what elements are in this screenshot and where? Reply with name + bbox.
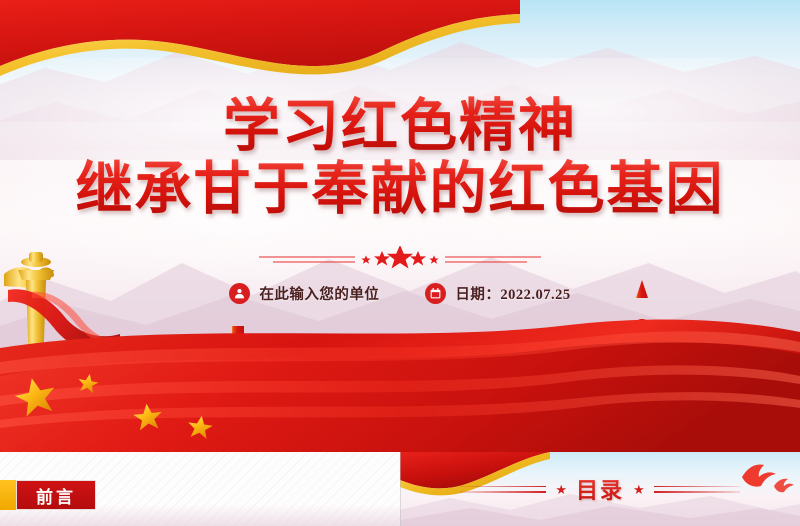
rule-left — [460, 486, 546, 493]
preface-red-block: 前言 — [16, 480, 96, 510]
unit-field[interactable]: 在此输入您的单位 — [229, 283, 379, 304]
title-block: 学习红色精神 继承甘于奉献的红色基因 — [0, 96, 800, 220]
preface-gold-accent — [0, 480, 16, 510]
star-divider — [0, 246, 800, 272]
star-left-icon: ★ — [555, 483, 567, 496]
unit-text: 在此输入您的单位 — [259, 283, 379, 304]
person-icon — [229, 283, 250, 304]
contents-title-row: ★ 目录 ★ — [400, 452, 800, 526]
page-title-line2: 继承甘于奉献的红色基因 — [0, 159, 800, 219]
calendar-icon — [425, 283, 446, 304]
preface-label: 前言 — [36, 483, 76, 508]
thumbnail-contents[interactable]: ★ 目录 ★ — [400, 452, 800, 526]
date-field[interactable]: 日期：2022.07.25 — [425, 283, 570, 304]
star-right-icon: ★ — [633, 483, 645, 496]
thumbnail-preface[interactable]: 前言 — [0, 452, 400, 526]
thumbnail-seam — [400, 452, 401, 526]
title-slide: 学习红色精神 继承甘于奉献的红色基因 — [0, 0, 800, 452]
preface-label-bar[interactable]: 前言 — [0, 480, 96, 510]
contents-label: 目录 — [576, 473, 624, 505]
date-text: 日期：2022.07.25 — [455, 283, 570, 304]
gold-stars-decoration — [0, 332, 220, 442]
meta-info-row: 在此输入您的单位 日期：2022.07.25 — [0, 283, 800, 304]
rule-right — [654, 486, 740, 493]
page-title-line1: 学习红色精神 — [0, 96, 800, 156]
